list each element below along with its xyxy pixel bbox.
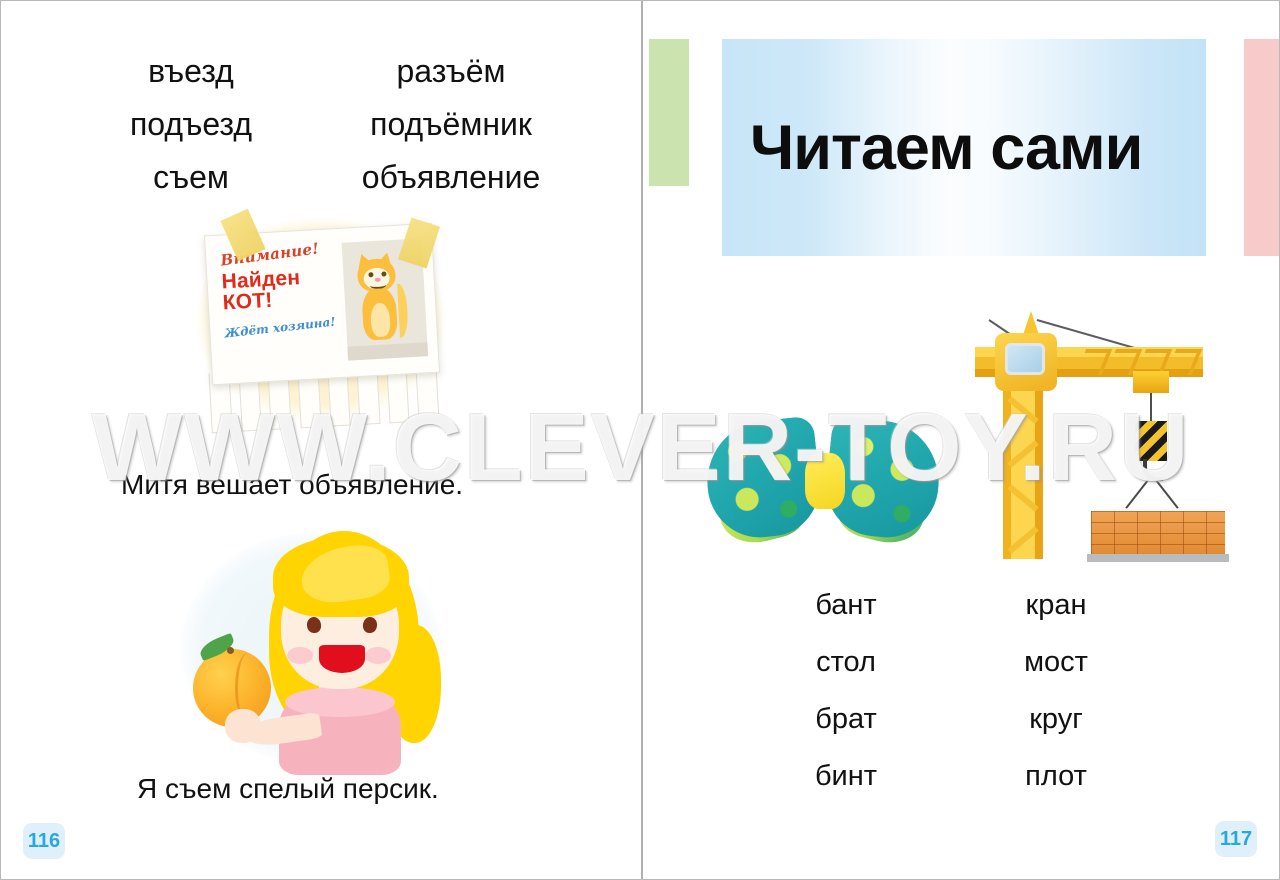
girl-dress-collar (285, 687, 395, 717)
section-title: Читаем сами (722, 39, 1206, 256)
girl-mouth (319, 645, 365, 673)
word-cell: бант (741, 589, 951, 622)
poster-found-line2: КОТ! (222, 286, 341, 314)
girl-cheek-right (365, 647, 391, 664)
caption-peach: Я съем спелый персик. (137, 773, 439, 805)
right-word-table: бант кран стол мост брат круг бинт плот (741, 589, 1161, 793)
girl-hand (225, 709, 261, 743)
page-number-right: 117 (1215, 821, 1257, 857)
girl-cheek-left (287, 647, 313, 664)
section-tab-green (649, 39, 689, 186)
word-cell: кран (951, 589, 1161, 622)
word-cell: объявление (321, 159, 581, 196)
poster-waits-text: Ждёт хозяина! (224, 314, 343, 341)
word-cell: подъезд (61, 106, 321, 143)
crane-cabin-window (1005, 343, 1045, 375)
bow-knot (805, 453, 845, 509)
word-cell: брат (741, 703, 951, 736)
peach-stem (227, 647, 234, 654)
section-banner: Читаем сами (722, 39, 1206, 256)
word-cell: въезд (61, 53, 321, 90)
crane-hook-block (1135, 421, 1167, 461)
word-cell: разъём (321, 53, 581, 90)
crane-sling-left (1125, 474, 1152, 508)
bow-illustration (701, 399, 951, 569)
book-page-spread: въезд разъём подъезд подъёмник съем объя… (0, 0, 1280, 880)
crane-cable (1150, 393, 1152, 423)
tower-crane-illustration (941, 289, 1231, 561)
word-cell: круг (951, 703, 1161, 736)
poster-found-text: Найден КОТ! (221, 265, 341, 314)
word-cell: съем (61, 159, 321, 196)
left-page: въезд разъём подъезд подъёмник съем объя… (1, 1, 641, 880)
word-cell: плот (951, 760, 1161, 793)
crane-sling-right (1151, 474, 1178, 508)
brick-load (1091, 511, 1225, 555)
page-number-left: 116 (23, 823, 65, 859)
section-tab-pink (1244, 39, 1280, 256)
word-cell: стол (741, 646, 951, 679)
word-cell: мост (951, 646, 1161, 679)
pallet-base (1087, 554, 1229, 562)
girl-with-peach-illustration (151, 521, 471, 771)
lost-cat-poster-illustration: Внимание! Найден КОТ! Ждёт хозяина! (166, 199, 476, 449)
caption-poster: Митя вешает объявление. (121, 469, 463, 501)
left-word-table: въезд разъём подъезд подъёмник съем объя… (61, 53, 581, 195)
crane-trolley (1133, 371, 1169, 393)
word-cell: подъёмник (321, 106, 581, 143)
word-cell: бинт (741, 760, 951, 793)
